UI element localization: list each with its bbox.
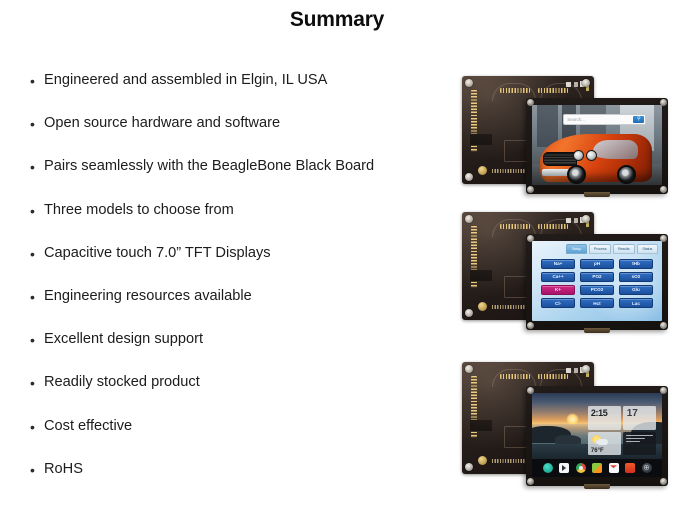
bezel-screw	[527, 99, 534, 106]
list-item-label: Excellent design support	[44, 329, 203, 349]
connector-block	[470, 134, 492, 145]
search-input[interactable]: Search... ⚲	[563, 114, 646, 125]
analyte-button-glu[interactable]: Glu	[619, 285, 653, 295]
tab-results[interactable]: Results	[613, 244, 635, 254]
bullet-marker-icon: •	[30, 156, 44, 177]
analyte-button-ph[interactable]: pH	[580, 259, 614, 269]
bullet-marker-icon: •	[30, 329, 44, 350]
display-stand-foot	[584, 192, 610, 197]
list-item: • Capacitive touch 7.0” TFT Displays	[30, 243, 460, 286]
maps-icon[interactable]	[592, 463, 602, 473]
list-item-label: Capacitive touch 7.0” TFT Displays	[44, 243, 271, 263]
search-placeholder: Search...	[564, 117, 585, 122]
smd-component	[566, 218, 571, 223]
connector-block	[470, 270, 492, 281]
pin-header-horizontal	[500, 88, 530, 93]
bezel-screw	[660, 186, 667, 193]
bezel-screw	[527, 387, 534, 394]
list-item: • Pairs seamlessly with the BeagleBone B…	[30, 156, 460, 199]
mounting-hole	[465, 173, 473, 181]
smd-component	[580, 367, 584, 373]
bullet-marker-icon: •	[30, 286, 44, 307]
car-headlight	[573, 150, 584, 161]
music-icon[interactable]	[625, 463, 635, 473]
smd-component	[574, 82, 578, 87]
bullet-marker-icon: •	[30, 70, 44, 91]
bullet-marker-icon: •	[30, 459, 44, 480]
analyzer-app: Setup Process Results Status Na+ pH tHb …	[532, 241, 662, 321]
smd-component	[586, 83, 589, 91]
app-drawer-icon[interactable]	[642, 463, 652, 473]
pin-header-horizontal	[538, 374, 568, 379]
bullet-marker-icon: •	[30, 200, 44, 221]
tab-setup[interactable]: Setup	[566, 244, 588, 254]
car-wheel	[567, 165, 586, 184]
tab-process[interactable]: Process	[589, 244, 611, 254]
tft-display-module: Setup Process Results Status Na+ pH tHb …	[526, 234, 668, 330]
car-grille	[543, 152, 577, 166]
bullet-marker-icon: •	[30, 416, 44, 437]
muscle-car	[540, 134, 652, 182]
mail-icon[interactable]	[609, 463, 619, 473]
analyte-button-po2[interactable]: PO2	[580, 272, 614, 282]
analyte-button-k[interactable]: K+	[541, 285, 575, 295]
list-item: • Open source hardware and software	[30, 113, 460, 156]
slide-root: Summary • Engineered and assembled in El…	[0, 0, 674, 506]
video-player-icon[interactable]	[559, 463, 569, 473]
analyte-button-pco2[interactable]: PCO2	[580, 285, 614, 295]
bullet-marker-icon: •	[30, 243, 44, 264]
pin-header-vertical	[471, 376, 477, 438]
phone-icon[interactable]	[543, 463, 553, 473]
bezel-screw	[527, 186, 534, 193]
pin-header-vertical	[471, 90, 477, 152]
list-item-label: Pairs seamlessly with the BeagleBone Bla…	[44, 156, 374, 176]
smd-component	[574, 368, 578, 373]
pin-header-vertical	[471, 226, 477, 288]
gold-pad	[478, 302, 487, 311]
pin-header-horizontal	[538, 88, 568, 93]
cloud-icon	[597, 439, 608, 445]
bullet-marker-icon: •	[30, 372, 44, 393]
mounting-hole	[465, 215, 473, 223]
smd-component	[580, 81, 584, 87]
summary-bullet-list: • Engineered and assembled in Elgin, IL …	[30, 70, 460, 502]
analyte-button-hct[interactable]: Hct	[580, 298, 614, 308]
display-screen: Setup Process Results Status Na+ pH tHb …	[532, 241, 662, 321]
smd-component	[574, 218, 578, 223]
clock-widget[interactable]: 2:15	[588, 406, 621, 429]
mounting-hole	[465, 309, 473, 317]
bezel-screw	[527, 478, 534, 485]
analyte-button-lac[interactable]: Lac	[619, 298, 653, 308]
list-item: • Readily stocked product	[30, 372, 460, 415]
android-home-screen: 2:15 17 76°F	[532, 393, 662, 477]
analyte-button-ca[interactable]: Ca++	[541, 272, 575, 282]
display-screen: Search... ⚲	[532, 105, 662, 185]
display-stand-foot	[584, 484, 610, 489]
silkscreen-arc	[540, 369, 582, 387]
page-title: Summary	[0, 8, 674, 32]
list-item: • Engineered and assembled in Elgin, IL …	[30, 70, 460, 113]
list-item-label: Engineering resources available	[44, 286, 252, 306]
bezel-screw	[660, 99, 667, 106]
analyte-button-na[interactable]: Na+	[541, 259, 575, 269]
list-item: • RoHS	[30, 459, 460, 502]
browser-icon[interactable]	[576, 463, 586, 473]
calendar-widget-date: 17	[627, 408, 638, 419]
list-item: • Engineering resources available	[30, 286, 460, 329]
list-item-label: Engineered and assembled in Elgin, IL US…	[44, 70, 327, 90]
list-item: • Excellent design support	[30, 329, 460, 372]
analyte-button-thb[interactable]: tHb	[619, 259, 653, 269]
connector-block	[470, 420, 492, 431]
rock-formation	[555, 435, 581, 444]
tab-status[interactable]: Status	[637, 244, 659, 254]
list-item-label: Readily stocked product	[44, 372, 200, 392]
weather-widget-temp: 76°F	[591, 448, 604, 454]
pin-header-horizontal	[538, 224, 568, 229]
search-icon[interactable]: ⚲	[633, 116, 644, 123]
bezel-screw	[660, 322, 667, 329]
mounting-hole	[582, 365, 590, 373]
list-item: • Three models to choose from	[30, 200, 460, 243]
background-building	[537, 105, 558, 147]
smd-component	[586, 219, 589, 227]
car-windshield	[593, 140, 638, 159]
calendar-widget[interactable]: 17	[623, 406, 656, 429]
list-item-label: RoHS	[44, 459, 83, 479]
product-image-analyzer: Setup Process Results Status Na+ pH tHb …	[458, 208, 668, 333]
list-item-label: Cost effective	[44, 416, 132, 436]
product-image-android: 2:15 17 76°F	[458, 358, 668, 490]
home-widget-grid: 2:15 17 76°F	[588, 406, 656, 455]
mounting-hole	[465, 365, 473, 373]
smd-component	[586, 369, 589, 377]
analyte-button-grid: Na+ pH tHb Ca++ PO2 sO2 K+ PCO2 Glu Cl- …	[541, 259, 653, 309]
silkscreen-arc	[492, 369, 536, 387]
mounting-hole	[582, 215, 590, 223]
analyte-button-cl[interactable]: Cl-	[541, 298, 575, 308]
clock-widget-time: 2:15	[591, 408, 607, 418]
gold-pad	[478, 166, 487, 175]
gold-pad	[478, 456, 487, 465]
smd-component	[580, 217, 584, 223]
mounting-hole	[465, 463, 473, 471]
pin-header-horizontal	[500, 374, 530, 379]
mounting-hole	[465, 79, 473, 87]
smd-component	[566, 368, 571, 373]
android-dock	[532, 459, 662, 477]
list-item-label: Three models to choose from	[44, 200, 234, 220]
bezel-screw	[527, 235, 534, 242]
tft-display-module: Search... ⚲	[526, 98, 668, 194]
weather-widget[interactable]: 76°F	[588, 432, 621, 455]
car-wheel	[617, 165, 636, 184]
car-headlight	[586, 150, 597, 161]
pin-header-horizontal	[500, 224, 530, 229]
list-item: • Cost effective	[30, 416, 460, 459]
bezel-screw	[527, 322, 534, 329]
news-widget-lines	[626, 435, 653, 444]
smd-component	[566, 82, 571, 87]
bezel-screw	[660, 387, 667, 394]
display-screen: 2:15 17 76°F	[532, 393, 662, 477]
bezel-screw	[660, 235, 667, 242]
mounting-hole	[582, 79, 590, 87]
analyte-button-so2[interactable]: sO2	[619, 272, 653, 282]
list-item-label: Open source hardware and software	[44, 113, 280, 133]
news-widget[interactable]	[623, 432, 656, 455]
bullet-marker-icon: •	[30, 113, 44, 134]
display-stand-foot	[584, 328, 610, 333]
analyzer-tab-bar: Setup Process Results Status	[566, 244, 658, 254]
bezel-screw	[660, 478, 667, 485]
tft-display-module: 2:15 17 76°F	[526, 386, 668, 486]
product-image-browser: Search... ⚲	[458, 72, 668, 197]
